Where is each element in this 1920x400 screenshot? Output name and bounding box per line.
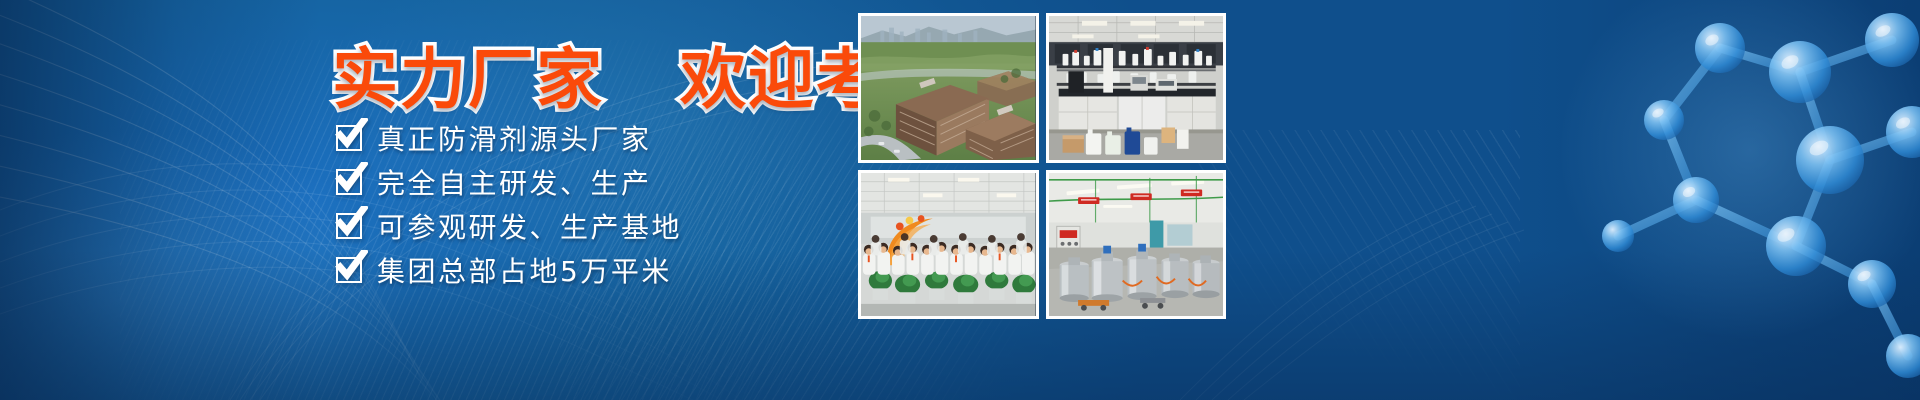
promo-banner: 实力厂家 欢迎考察 真正防滑剂源头厂家 完全自主研发、生产 可参观研发、生产基地	[0, 0, 1920, 400]
feature-item-label: 集团总部占地5万平米	[377, 250, 672, 290]
hatch-fan-decoration-right	[1190, 130, 1520, 400]
feature-item-2: 完全自主研发、生产	[336, 164, 682, 199]
feature-item-label: 完全自主研发、生产	[377, 162, 652, 202]
checkbox-checked-icon	[336, 257, 362, 283]
aerial-campus-photo	[858, 13, 1039, 163]
checkbox-checked-icon	[336, 169, 362, 195]
left-vignette	[0, 0, 320, 400]
feature-item-label: 可参观研发、生产基地	[377, 206, 682, 246]
production-tanks-photo	[1046, 170, 1227, 320]
facility-photo-grid	[858, 13, 1226, 319]
laboratory-photo	[1046, 13, 1227, 163]
feature-item-1: 真正防滑剂源头厂家	[336, 120, 682, 155]
feature-list: 真正防滑剂源头厂家 完全自主研发、生产 可参观研发、生产基地 集团总部占地5万平…	[336, 120, 682, 287]
checkbox-checked-icon	[336, 213, 362, 239]
employee-group-photo	[858, 170, 1039, 320]
feature-item-3: 可参观研发、生产基地	[336, 208, 682, 243]
molecule-structure-icon	[1500, 0, 1920, 400]
feature-item-4: 集团总部占地5万平米	[336, 252, 682, 287]
checkbox-checked-icon	[336, 125, 362, 151]
headline-part-1: 实力厂家	[332, 41, 604, 118]
feature-item-label: 真正防滑剂源头厂家	[377, 118, 652, 158]
